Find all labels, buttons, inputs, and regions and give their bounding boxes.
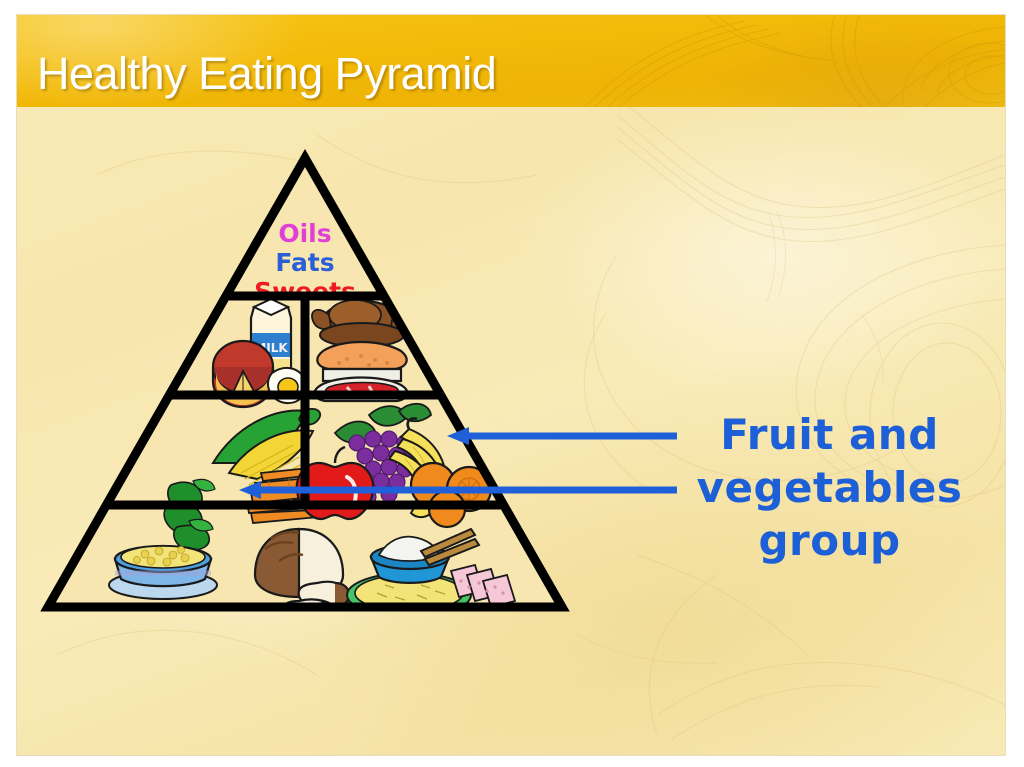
pyramid-graphic: Oils Fats Sweets MILK (17, 15, 1005, 755)
callout-line-3: group (672, 514, 987, 567)
cereal-bowl-icon (109, 546, 217, 599)
slide-canvas: Healthy Eating Pyramid Oils Fats Sweets (17, 15, 1005, 755)
label-fats: Fats (275, 248, 334, 277)
callout-line-1: Fruit and (672, 408, 987, 461)
fish-fillet-icon (317, 342, 406, 381)
callout-line-2: vegetables (672, 461, 987, 514)
label-oils: Oils (278, 219, 331, 248)
fruit-and-vegetables-callout: Fruit and vegetables group (672, 408, 987, 567)
